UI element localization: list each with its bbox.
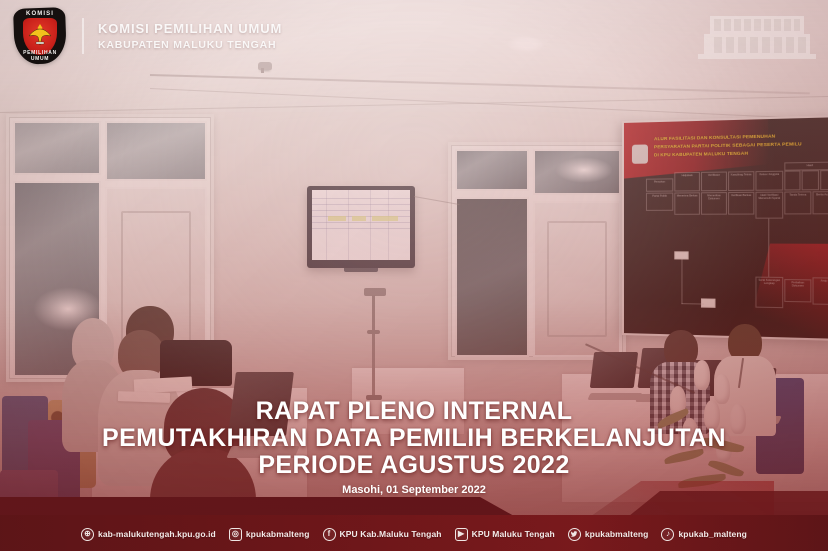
banner-flowchart: Pemohon Helpdesk Verifikator Kasubbag Te… (646, 162, 828, 333)
banner-cell: Surat Keterangan Lengkap (755, 277, 783, 309)
window-pane (105, 121, 207, 181)
banner-kpu-logo (632, 144, 648, 163)
banner-connector (768, 219, 769, 277)
social-item-facebook[interactable]: f KPU Kab.Maluku Tengah (323, 528, 442, 541)
screen-stand (344, 268, 378, 272)
social-label-instagram: kpukabmalteng (246, 529, 310, 539)
banner-column-header: Verifikator (701, 172, 727, 192)
tiktok-icon: ♪ (661, 528, 674, 541)
banner-column-header: Helpdesk (674, 172, 700, 192)
window-pane (13, 121, 101, 175)
title-line-2: PEMUTAKHIRAN DATA PEMILIH BERKELANJUTAN (0, 425, 828, 452)
laptop (592, 352, 636, 400)
banner-connector (681, 303, 704, 304)
banner-cell: Partai Politik (646, 193, 673, 211)
screen-content (312, 190, 410, 260)
social-item-twitter[interactable]: kpukabmalteng (568, 528, 649, 541)
banner-cell (802, 170, 819, 190)
header-divider (82, 18, 84, 54)
social-label-website: kab-malukutengah.kpu.go.id (98, 529, 216, 539)
twitter-icon (568, 528, 581, 541)
banner-column-header: Kasubbag Teknis (728, 171, 754, 191)
social-item-instagram[interactable]: ◎ kpukabmalteng (229, 528, 310, 541)
social-item-tiktok[interactable]: ♪ kpukab_malteng (661, 528, 746, 541)
social-item-youtube[interactable]: ▶ KPU Maluku Tengah (455, 528, 555, 541)
banner-connector (681, 259, 682, 304)
banner-cell: Tanda Terima (784, 191, 811, 214)
banner-cell: Perbaikan Dokumen (784, 279, 811, 302)
title-line-3: PERIODE AGUSTUS 2022 (0, 452, 828, 479)
banner-cell: Hasil Verifikasi Memenuhi Syarat (755, 192, 783, 219)
header-bar: KOMISI PEMILIHAN UMUM KOMISI PEMILIHAN U… (0, 0, 828, 72)
tripod-camera (356, 288, 390, 400)
window-right (448, 142, 626, 360)
banner-node (674, 251, 688, 259)
garuda-icon (27, 23, 53, 47)
tripod-knob (367, 330, 380, 334)
logo-text-top: KOMISI (14, 11, 66, 17)
title-subtitle: Masohi, 01 September 2022 (0, 484, 828, 496)
header-line-2: KABUPATEN MALUKU TENGAH (98, 39, 282, 51)
banner-cell (784, 170, 800, 190)
social-label-twitter: kpukabmalteng (585, 529, 649, 539)
social-item-website[interactable]: ⊕ kab-malukutengah.kpu.go.id (81, 528, 216, 541)
header-titles: KOMISI PEMILIHAN UMUM KABUPATEN MALUKU T… (98, 21, 282, 51)
twitter-bird-icon (570, 530, 578, 538)
youtube-icon: ▶ (455, 528, 468, 541)
title-block: RAPAT PLENO INTERNAL PEMUTAKHIRAN DATA P… (0, 398, 828, 496)
door-panel (533, 201, 621, 357)
projector-screen (307, 186, 415, 268)
banner-column-header: Pemohon (646, 178, 673, 191)
banner-cell: Menerima Berkas (674, 192, 700, 215)
instagram-icon: ◎ (229, 528, 242, 541)
window-pane (455, 197, 529, 357)
poster-canvas: ALUR FASILITASI DAN KONSULTASI PEMENUHAN… (0, 0, 828, 551)
social-media-bar: ⊕ kab-malukutengah.kpu.go.id ◎ kpukabmal… (0, 523, 828, 545)
facebook-icon: f (323, 528, 336, 541)
window-pane (455, 149, 529, 191)
banner-cell: Memeriksa Dokumen (701, 192, 727, 215)
title-line-1: RAPAT PLENO INTERNAL (0, 398, 828, 425)
logo-text-bottom: PEMILIHAN UMUM (14, 50, 66, 62)
social-label-youtube: KPU Maluku Tengah (472, 529, 555, 539)
window-pane (533, 149, 621, 195)
social-label-tiktok: kpukab_malteng (678, 529, 746, 539)
kpu-logo-icon: KOMISI PEMILIHAN UMUM (14, 8, 66, 64)
banner-heading: ALUR FASILITASI DAN KONSULTASI PEMENUHAN… (654, 131, 828, 159)
banner-column-header: Ketua / Anggota (755, 171, 783, 191)
banner-cell: Arsip (812, 277, 828, 305)
social-label-facebook: KPU Kab.Maluku Tengah (340, 529, 442, 539)
banner-cell: Berita Acara (812, 191, 828, 214)
tripod-pole (372, 295, 375, 395)
header-line-1: KOMISI PEMILIHAN UMUM (98, 21, 282, 36)
banner-cell: Verifikasi Berkas (728, 192, 754, 215)
wall-banner: ALUR FASILITASI DAN KONSULTASI PEMENUHAN… (622, 115, 828, 341)
camera-head (364, 288, 386, 296)
globe-icon: ⊕ (81, 528, 94, 541)
banner-cell (820, 170, 828, 190)
